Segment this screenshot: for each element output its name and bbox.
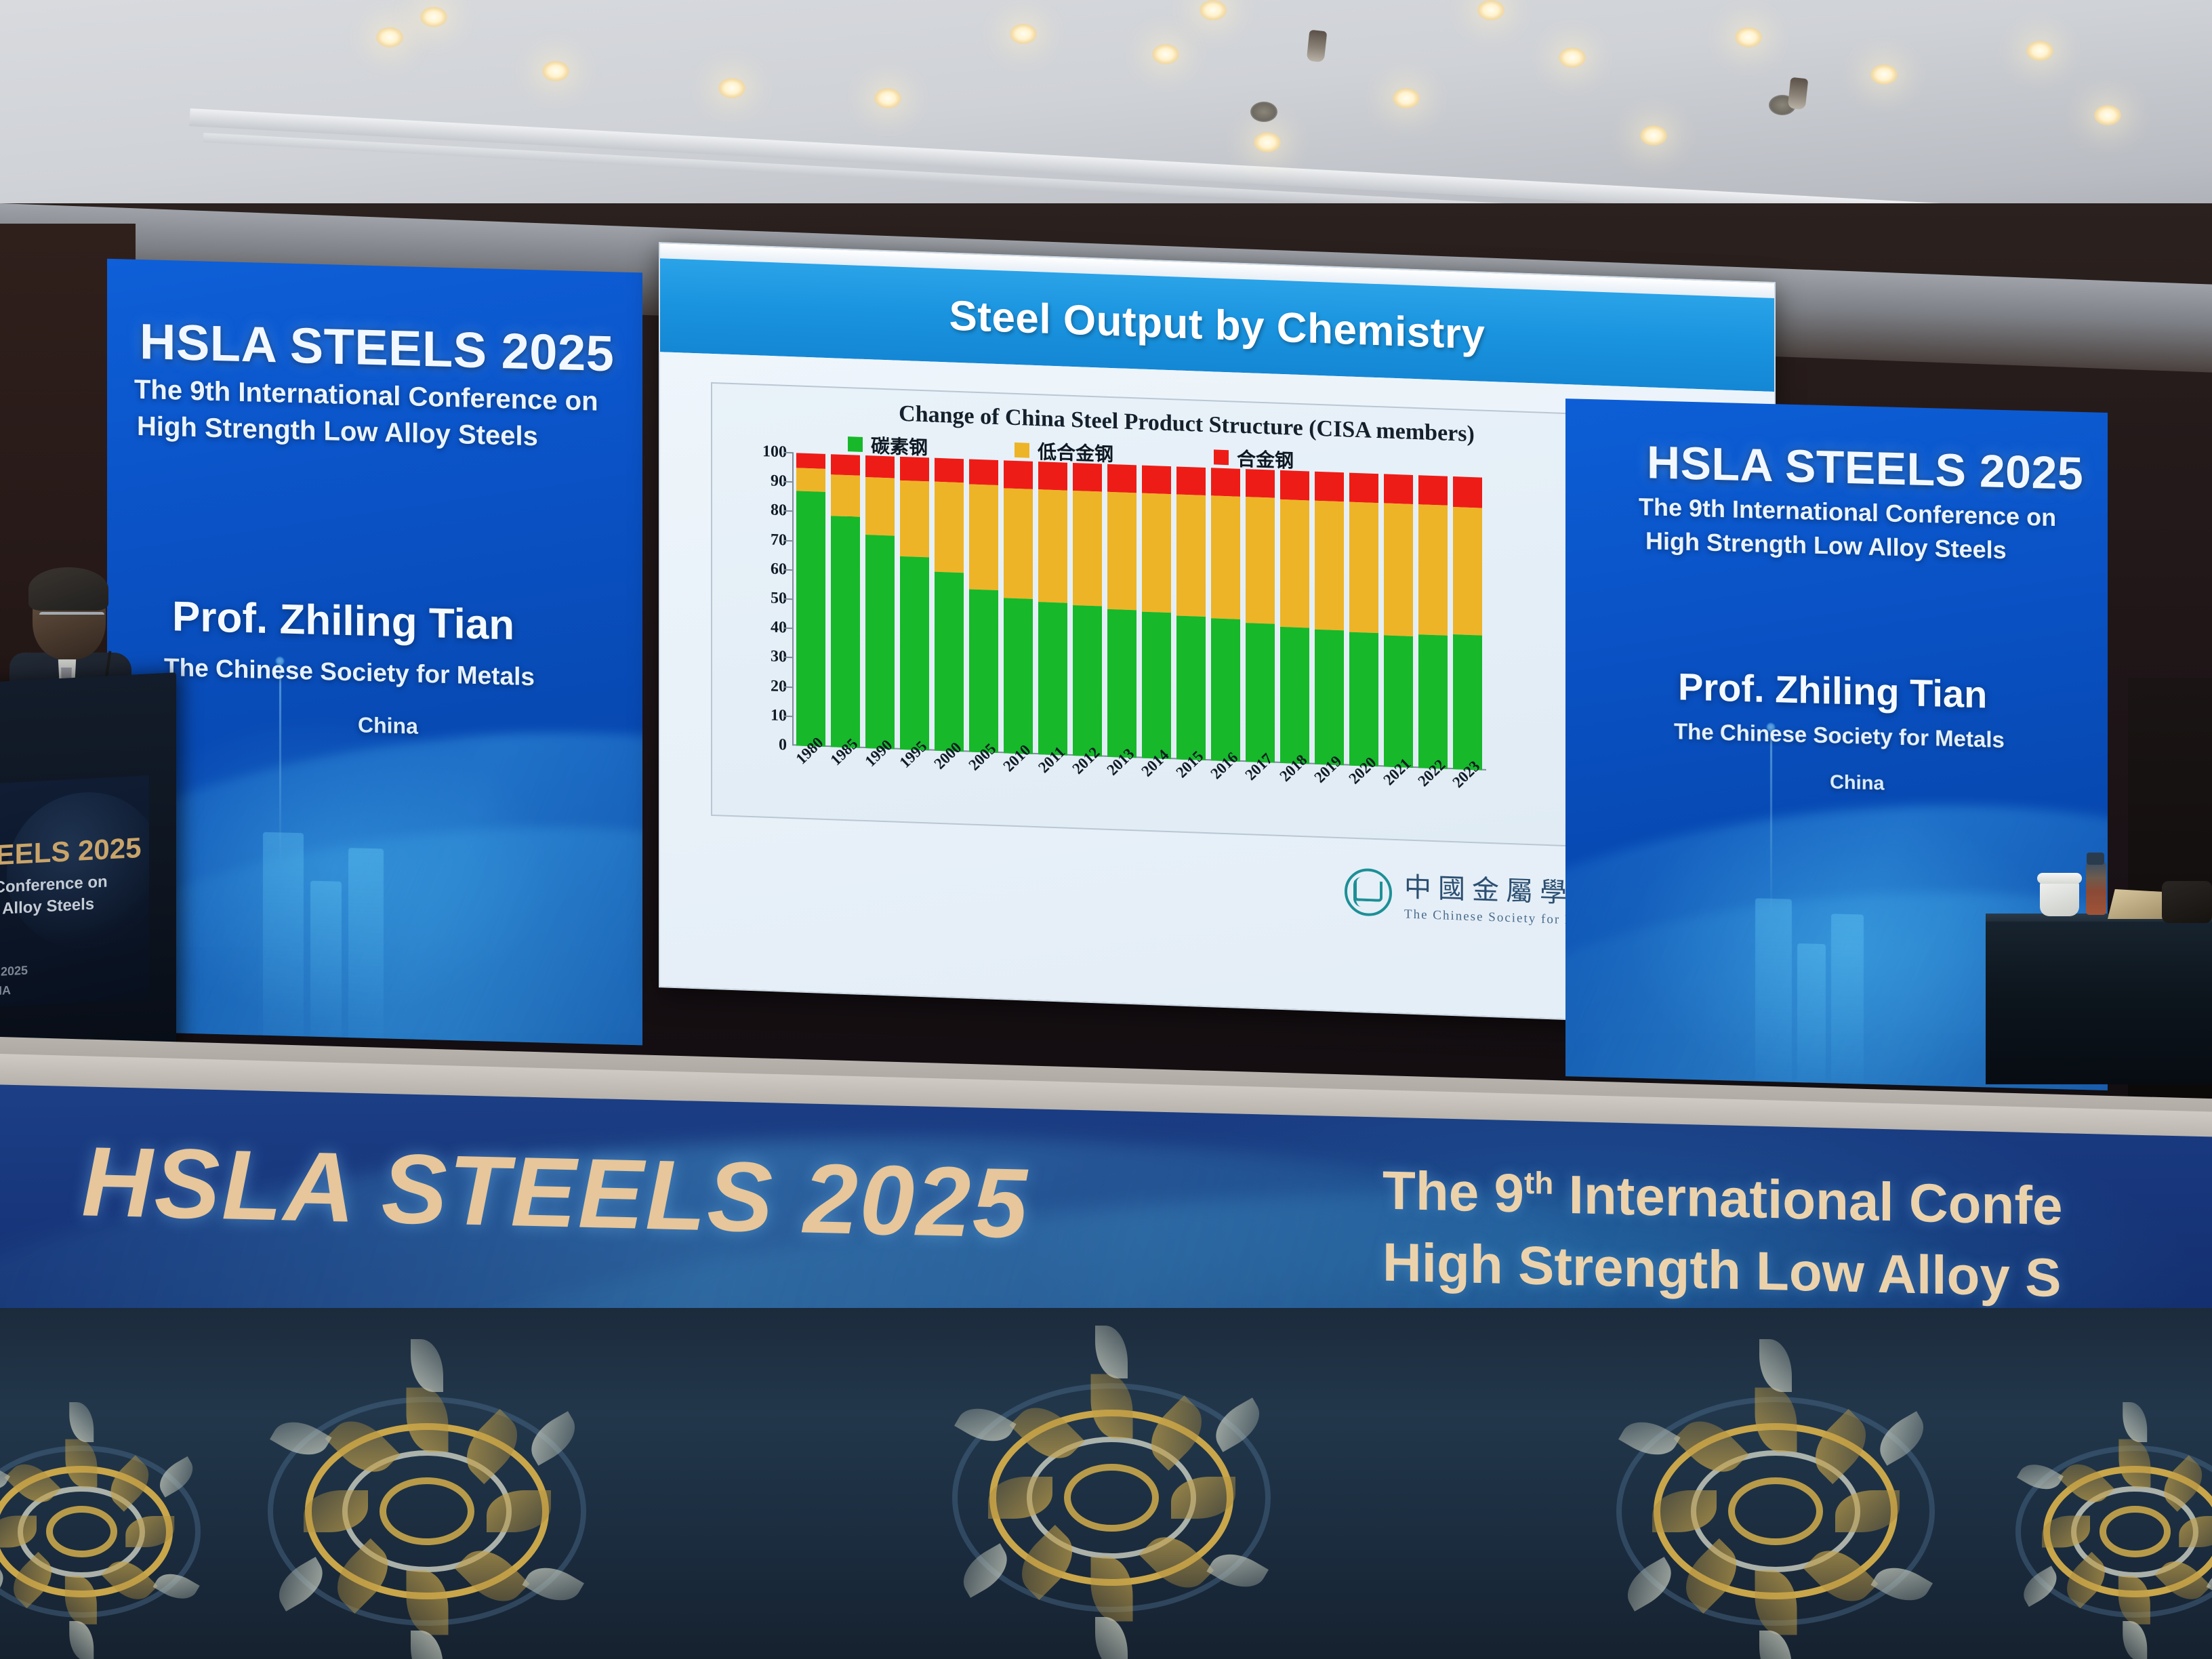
stacked-bar	[1243, 469, 1277, 763]
ceiling-downlight	[420, 7, 447, 27]
ceiling-downlight	[1477, 0, 1504, 20]
skyline-light-beam	[279, 663, 281, 866]
skyline-graphic	[1701, 808, 1986, 1087]
stacked-bar	[1036, 462, 1070, 756]
ceiling-downlight	[1010, 24, 1037, 44]
stage-banner-main-title: HSLA STEELS 2025	[81, 1124, 1029, 1261]
stacked-bar	[966, 459, 1001, 753]
bar-segment-carbon-steel	[1038, 602, 1067, 756]
stacked-bar-group	[794, 453, 1485, 771]
podium-sign: STEELS 2025 ional Conference on h Low Al…	[0, 775, 149, 1008]
x-tick: 2005	[966, 752, 1001, 834]
bar-segment-hsla-steel	[969, 484, 998, 590]
ceiling-downlight	[1152, 44, 1179, 64]
right-panel-title: HSLA STEELS 2025	[1647, 436, 2083, 500]
x-tick: 2018	[1277, 763, 1312, 846]
bar-segment-carbon-steel	[1418, 635, 1448, 769]
skyline-tower	[348, 848, 384, 1038]
bar-segment-alloy-steel	[1349, 473, 1378, 504]
carpet-leaf	[69, 1621, 94, 1659]
legend-swatch-icon	[1015, 443, 1029, 458]
ceiling-downlight	[542, 61, 569, 81]
document-folder	[2108, 889, 2169, 919]
bar-segment-carbon-steel	[1004, 598, 1033, 754]
stacked-bar	[1277, 470, 1312, 764]
bar-segment-hsla-steel	[865, 477, 895, 535]
right-panel-subtitle-1: The 9th International Conference on	[1639, 493, 2056, 532]
bar-segment-hsla-steel	[1107, 492, 1136, 610]
carpet-medallion	[1064, 1464, 1159, 1532]
chart-plot-area: 0102030405060708090100 19801985199019952…	[794, 453, 1485, 771]
bar-segment-carbon-steel	[831, 516, 860, 748]
bar-segment-alloy-steel	[1418, 475, 1448, 506]
ceiling-downlight-off	[1250, 102, 1277, 122]
bar-segment-hsla-steel	[1418, 504, 1448, 636]
bar-segment-carbon-steel	[1073, 605, 1102, 757]
carpet-leaf	[2123, 1403, 2147, 1443]
bar-segment-hsla-steel	[1280, 499, 1309, 628]
podium-sign-place: NG, CHINA	[0, 983, 11, 1001]
speaker-hair	[28, 567, 108, 611]
bar-segment-alloy-steel	[831, 454, 860, 476]
skyline-tower	[1755, 898, 1792, 1082]
bar-segment-carbon-steel	[796, 491, 825, 747]
stacked-bar	[1381, 474, 1416, 768]
bar-segment-carbon-steel	[1384, 635, 1413, 768]
carpet-medallion	[2100, 1506, 2171, 1557]
carpet-medallion	[46, 1506, 117, 1557]
side-table	[1986, 922, 2212, 1084]
bar-segment-carbon-steel	[1349, 632, 1378, 766]
ceiling-downlight	[1640, 125, 1667, 146]
x-tick: 2016	[1208, 760, 1243, 843]
bar-segment-alloy-steel	[1280, 470, 1309, 501]
left-panel-speaker-org: The Chinese Society for Metals	[164, 653, 535, 691]
skyline-graphic	[209, 750, 493, 1042]
chair-back	[2162, 881, 2212, 923]
stacked-bar	[1416, 475, 1450, 769]
csm-logo-icon	[1345, 867, 1392, 917]
bar-segment-hsla-steel	[1142, 493, 1171, 613]
bar-segment-alloy-steel	[865, 455, 895, 478]
stacked-bar	[1450, 476, 1485, 771]
ceiling-downlight	[1254, 132, 1281, 152]
left-panel-subtitle-2: High Strength Low Alloy Steels	[137, 411, 538, 452]
bar-segment-carbon-steel	[1176, 616, 1206, 760]
ceiling-downlight	[1559, 47, 1586, 68]
bar-segment-hsla-steel	[1176, 495, 1206, 617]
stacked-bar	[794, 453, 828, 747]
bar-segment-alloy-steel	[1176, 466, 1206, 495]
x-tick: 2010	[1001, 753, 1036, 836]
bar-segment-hsla-steel	[1073, 491, 1102, 606]
x-tick: 1985	[828, 747, 863, 829]
bar-segment-hsla-steel	[1211, 495, 1240, 619]
skyline-tower	[263, 832, 304, 1037]
bar-segment-carbon-steel	[1142, 612, 1171, 760]
ceiling-downlight	[1393, 88, 1420, 108]
stage-banner-line1-rest: International Confe	[1553, 1164, 2062, 1236]
stacked-bar	[828, 454, 863, 748]
tea-cup	[2040, 881, 2079, 916]
x-tick: 2013	[1105, 757, 1139, 840]
led-panel-left: HSLA STEELS 2025 The 9th International C…	[107, 259, 642, 1046]
bar-segment-carbon-steel	[935, 572, 964, 752]
x-tick: 1990	[863, 748, 897, 831]
bar-segment-carbon-steel	[900, 556, 929, 751]
bar-segment-carbon-steel	[1107, 609, 1136, 758]
tea-cup-lid	[2037, 873, 2082, 884]
bar-segment-hsla-steel	[935, 481, 964, 573]
stage-banner-line1-prefix: The 9	[1382, 1160, 1524, 1224]
x-tick: 2011	[1036, 754, 1070, 837]
carpet-leaf	[411, 1339, 443, 1392]
y-tick-label: 100	[762, 443, 787, 462]
podium-sign-date: BER 2-4, 2025	[0, 964, 28, 982]
x-tick: 2021	[1381, 766, 1416, 849]
x-tick: 2000	[932, 751, 966, 834]
bar-segment-alloy-steel	[1004, 460, 1033, 489]
stacked-bar	[1139, 465, 1174, 759]
patterned-carpet	[0, 1308, 2212, 1659]
x-tick: 2022	[1416, 768, 1450, 851]
bar-segment-alloy-steel	[796, 453, 825, 468]
x-tick: 2014	[1139, 758, 1174, 840]
x-tick: 2017	[1243, 762, 1277, 844]
carpet-leaf	[1759, 1339, 1792, 1392]
chart-frame: Change of China Steel Product Structure …	[711, 382, 1582, 847]
stacked-bar	[1208, 468, 1243, 762]
bar-segment-alloy-steel	[1315, 472, 1344, 502]
stacked-bar	[1105, 464, 1139, 758]
bar-segment-alloy-steel	[935, 458, 964, 483]
stacked-bar	[1174, 466, 1208, 760]
water-bottle	[2086, 862, 2106, 915]
bar-segment-alloy-steel	[1142, 466, 1171, 495]
bar-segment-carbon-steel	[1280, 627, 1309, 764]
lectern-podium: STEELS 2025 ional Conference on h Low Al…	[0, 672, 176, 1063]
y-tick-label: 0	[779, 736, 787, 754]
stacked-bar	[897, 457, 932, 751]
skyline-tower	[310, 881, 342, 1038]
glasses-icon	[39, 612, 104, 628]
water-bottle-cap	[2087, 853, 2104, 865]
skyline-tower	[1831, 914, 1864, 1084]
ceiling-downlight	[1870, 64, 1898, 85]
right-panel-speaker-name: Prof. Zhiling Tian	[1678, 664, 1987, 716]
slide-title: Steel Output by Chemistry	[949, 291, 1485, 359]
bar-segment-carbon-steel	[1211, 619, 1240, 762]
ceiling-sprinkler	[1788, 77, 1809, 110]
ceiling-downlight	[874, 88, 901, 108]
ceiling-downlight	[718, 78, 745, 98]
stacked-bar	[863, 455, 897, 750]
bar-segment-hsla-steel	[900, 480, 929, 557]
carpet-leaf	[2123, 1621, 2147, 1659]
stacked-bar	[1070, 463, 1105, 757]
x-tick: 2020	[1347, 765, 1381, 848]
stacked-bar	[1001, 460, 1036, 754]
right-panel-subtitle-2: High Strength Low Alloy Steels	[1645, 527, 2007, 565]
bar-segment-carbon-steel	[1453, 634, 1482, 770]
ceiling-downlight	[1200, 0, 1227, 20]
x-tick: 2015	[1174, 759, 1208, 842]
bar-segment-alloy-steel	[1453, 476, 1482, 508]
carpet-medallion	[1728, 1477, 1823, 1546]
bar-segment-hsla-steel	[1004, 488, 1033, 599]
bar-segment-hsla-steel	[1349, 502, 1378, 634]
skyline-light-beam	[1770, 729, 1772, 919]
bar-segment-hsla-steel	[1315, 501, 1344, 631]
bar-segment-hsla-steel	[796, 468, 825, 492]
bar-segment-alloy-steel	[1211, 468, 1240, 497]
x-tick: 2019	[1312, 764, 1347, 847]
x-tick: 1995	[897, 750, 932, 832]
legend-swatch-icon	[1214, 449, 1229, 465]
x-tick: 2012	[1070, 756, 1105, 838]
bar-segment-alloy-steel	[1384, 474, 1413, 504]
stage-banner-line1-sup: th	[1524, 1165, 1553, 1201]
ceiling-sprinkler	[1307, 30, 1328, 62]
carpet-medallion	[380, 1477, 474, 1546]
ceiling-downlight	[2094, 105, 2121, 125]
x-tick: 2023	[1450, 769, 1485, 852]
bar-segment-hsla-steel	[1384, 504, 1413, 636]
bar-segment-hsla-steel	[1453, 507, 1482, 636]
led-video-wall: HSLA STEELS 2025 The 9th International C…	[95, 245, 2101, 1097]
stacked-bar	[1347, 472, 1381, 766]
bar-segment-alloy-steel	[900, 457, 929, 481]
left-panel-speaker-country: China	[358, 712, 418, 739]
bar-segment-alloy-steel	[969, 459, 998, 485]
stacked-bar	[932, 458, 966, 752]
bar-segment-alloy-steel	[1246, 469, 1275, 498]
x-tick: 1980	[794, 745, 828, 828]
bar-segment-hsla-steel	[1246, 497, 1275, 623]
skyline-tower	[1797, 943, 1826, 1083]
carpet-leaf	[1095, 1617, 1128, 1659]
ceiling-downlight	[1735, 27, 1762, 47]
bar-segment-carbon-steel	[1246, 623, 1275, 763]
right-panel-speaker-org: The Chinese Society for Metals	[1674, 718, 2005, 753]
carpet-leaf	[69, 1403, 94, 1443]
carpet-leaf	[1095, 1326, 1128, 1378]
bar-segment-alloy-steel	[1073, 463, 1102, 492]
left-panel-title: HSLA STEELS 2025	[140, 312, 614, 382]
stacked-bar	[1312, 472, 1347, 766]
bar-segment-alloy-steel	[1107, 464, 1136, 493]
bar-segment-hsla-steel	[831, 474, 860, 516]
ceiling-downlight	[376, 27, 403, 47]
bar-segment-hsla-steel	[1038, 489, 1067, 603]
bar-segment-carbon-steel	[969, 590, 998, 753]
bar-segment-carbon-steel	[1315, 630, 1344, 765]
bar-segment-carbon-steel	[865, 535, 895, 750]
ceiling-downlight	[2026, 41, 2053, 61]
right-panel-speaker-country: China	[1830, 771, 1885, 795]
left-panel-speaker-name: Prof. Zhiling Tian	[172, 592, 514, 649]
bar-segment-alloy-steel	[1038, 462, 1067, 491]
globe-graphic	[7, 788, 149, 952]
left-panel-subtitle-1: The 9th International Conference on	[134, 375, 598, 417]
